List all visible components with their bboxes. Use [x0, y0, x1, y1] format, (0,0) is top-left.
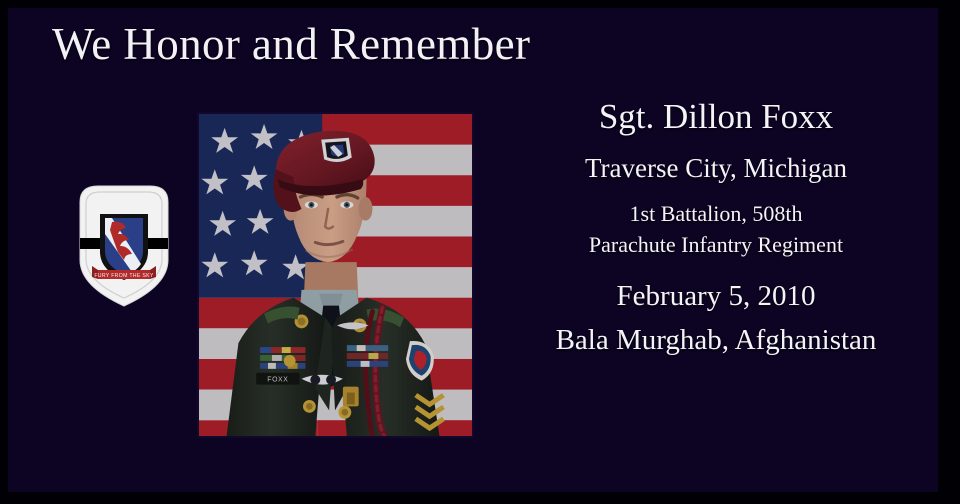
soldier-portrait-photo: FOXX — [199, 114, 472, 436]
page-title: We Honor and Remember — [52, 16, 652, 72]
soldier-hometown: Traverse City, Michigan — [476, 148, 956, 188]
soldier-name: Sgt. Dillon Foxx — [476, 94, 956, 140]
insignia-motto-text: FURY FROM THE SKY — [94, 273, 154, 279]
unit-insignia-flash: FURY FROM THE SKY — [74, 182, 174, 310]
beret-flash-icon: FURY FROM THE SKY — [74, 182, 174, 310]
memorial-card: We Honor and Remember — [0, 0, 960, 504]
portrait-frame: FOXX — [197, 112, 474, 438]
soldier-details: Sgt. Dillon Foxx Traverse City, Michigan… — [476, 94, 956, 362]
soldier-unit-regiment: Parachute Infantry Regiment — [476, 229, 956, 260]
memorial-panel: We Honor and Remember — [8, 8, 938, 492]
date-of-death: February 5, 2010 — [476, 274, 956, 318]
soldier-unit-battalion: 1st Battalion, 508th — [476, 198, 956, 229]
place-of-death: Bala Murghab, Afghanistan — [476, 318, 956, 362]
